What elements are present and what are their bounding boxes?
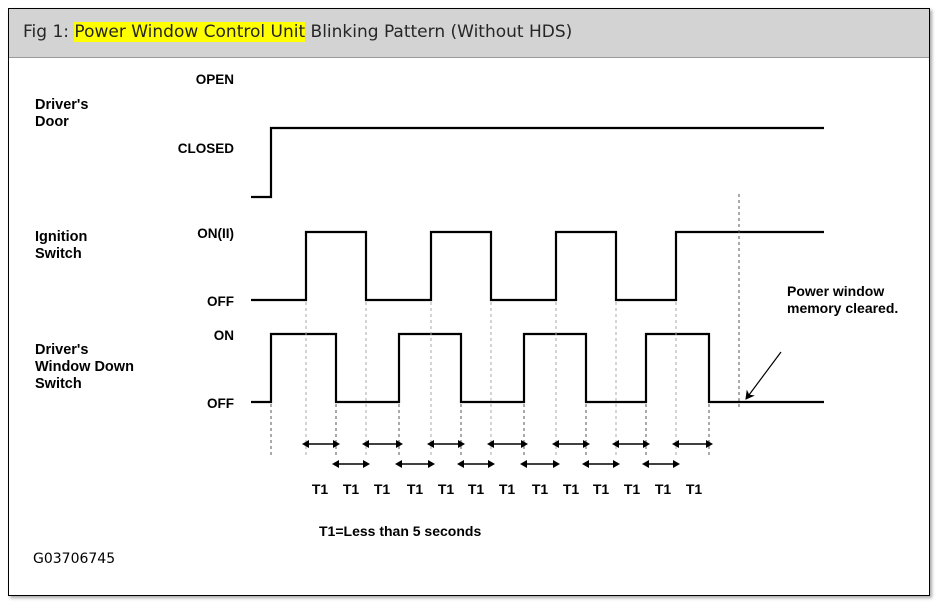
t1-labels: T1 T1 T1 T1 T1 T1 T1 T1 T1 T1 T1 T1 T1 [312,481,703,497]
caption-suffix: Blinking Pattern (Without HDS) [305,22,572,42]
t1-label: T1 [499,481,516,497]
waveform-drivers-door [251,128,824,197]
state-label-ignition-off: OFF [207,294,234,309]
state-label-door-closed: CLOSED [178,141,235,156]
t1-label: T1 [343,481,360,497]
caption-highlighted-term: Power Window Control Unit [74,22,305,42]
signal-label-drivers-door-line2: Door [35,114,69,130]
memory-cleared-annotation: Power window memory cleared. [739,194,898,410]
t1-label: T1 [312,481,329,497]
figure-frame: Fig 1: Power Window Control Unit Blinkin… [8,8,930,596]
annotation-line1: Power window [787,283,884,299]
waveform-window-down-switch [251,334,824,402]
signal-group-window-down-switch: Driver's Window Down Switch ON OFF [35,328,824,411]
t1-label: T1 [593,481,610,497]
signal-group-ignition-switch: Ignition Switch ON(II) OFF [35,226,824,309]
timing-note: T1=Less than 5 seconds [319,523,481,539]
signal-label-window-line3: Switch [35,376,82,392]
t1-label: T1 [655,481,672,497]
signal-label-ignition-line1: Ignition [35,229,87,245]
state-label-window-off: OFF [207,396,234,411]
state-label-ignition-on: ON(II) [197,226,234,241]
t1-label: T1 [374,481,391,497]
figure-header-bar: Fig 1: Power Window Control Unit Blinkin… [9,9,929,58]
t1-label: T1 [532,481,549,497]
state-label-door-open: OPEN [196,72,234,87]
figure-id: G03706745 [33,551,115,567]
memory-cleared-leader-arrow [746,352,781,399]
t1-label: T1 [686,481,703,497]
signal-group-drivers-door: Driver's Door OPEN CLOSED [35,72,824,197]
figure-caption: Fig 1: Power Window Control Unit Blinkin… [23,22,572,42]
annotation-line2: memory cleared. [787,300,898,316]
caption-prefix: Fig 1: [23,22,74,42]
t1-label: T1 [438,481,455,497]
t1-label: T1 [563,481,580,497]
t1-label: T1 [624,481,641,497]
signal-label-window-line2: Window Down [35,359,134,375]
t1-label: T1 [468,481,485,497]
waveform-ignition-switch [251,232,824,300]
t1-label: T1 [407,481,424,497]
state-label-window-on: ON [214,328,234,343]
timing-diagram-svg: Driver's Door OPEN CLOSED Ignition Switc… [9,58,930,596]
signal-label-ignition-line2: Switch [35,246,82,262]
timing-diagram-plot: Driver's Door OPEN CLOSED Ignition Switc… [9,58,929,596]
signal-label-drivers-door-line1: Driver's [35,97,88,113]
signal-label-window-line1: Driver's [35,342,88,358]
